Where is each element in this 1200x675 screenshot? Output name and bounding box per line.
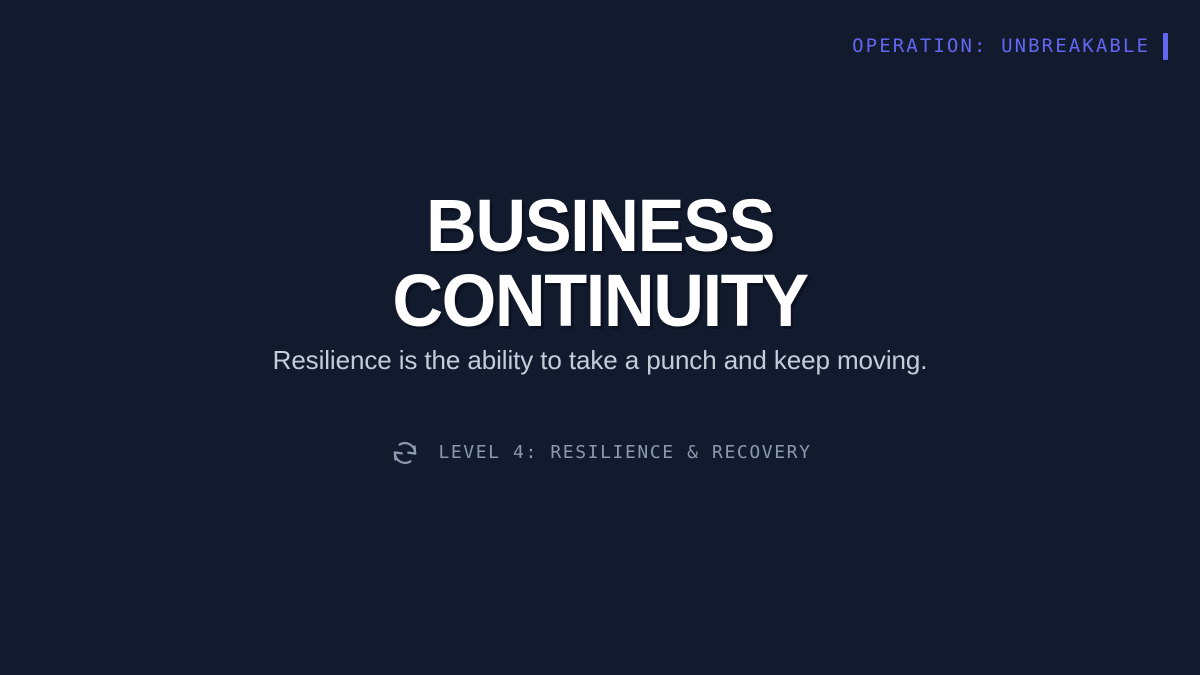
operation-tag: OPERATION: UNBREAKABLE bbox=[852, 30, 1168, 62]
page-title: BUSINESS CONTINUITY bbox=[0, 196, 1200, 330]
operation-label: OPERATION: UNBREAKABLE bbox=[852, 37, 1150, 56]
title-line-2: CONTINUITY bbox=[30, 271, 1170, 330]
subtitle: Resilience is the ability to take a punc… bbox=[0, 344, 1200, 378]
slide-root: OPERATION: UNBREAKABLE BUSINESS CONTINUI… bbox=[0, 0, 1200, 675]
refresh-cycle-icon bbox=[388, 436, 422, 470]
title-line-1: BUSINESS bbox=[30, 196, 1170, 255]
level-label: LEVEL 4: RESILIENCE & RECOVERY bbox=[438, 444, 811, 462]
level-badge: LEVEL 4: RESILIENCE & RECOVERY bbox=[0, 436, 1200, 470]
terminal-cursor-icon bbox=[1163, 33, 1168, 60]
